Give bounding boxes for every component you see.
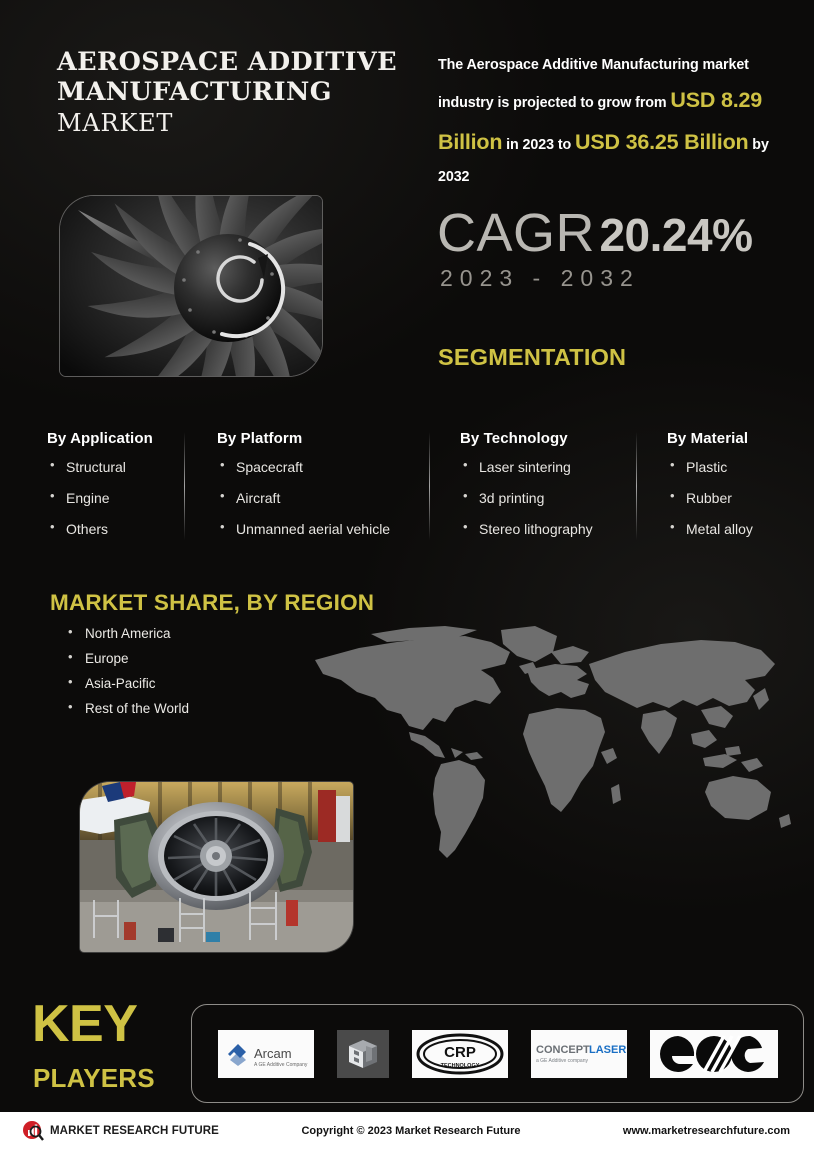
key-players-label-key: KEY bbox=[32, 1000, 137, 1050]
svg-text:TECHNOLOGY: TECHNOLOGY bbox=[440, 1063, 479, 1069]
logo-arcam: Arcam A GE Additive Company bbox=[218, 1030, 314, 1078]
logo-concept-laser: CONCEPT LASER a GE Additive company bbox=[531, 1030, 627, 1078]
segment-item: Plastic bbox=[667, 458, 753, 476]
summary-value-2032: USD 36.25 Billion bbox=[575, 130, 748, 154]
market-share-heading: MARKET SHARE, BY REGION bbox=[50, 590, 374, 616]
segment-item: Laser sintering bbox=[460, 458, 593, 476]
segment-column-material: By Material Plastic Rubber Metal alloy bbox=[667, 430, 753, 552]
segment-title: By Technology bbox=[460, 430, 593, 447]
mrf-logo-icon bbox=[22, 1120, 44, 1142]
segmentation-heading: SEGMENTATION bbox=[438, 344, 626, 371]
infographic-page: AEROSPACE ADDITIVE MANUFACTURING MARKET … bbox=[0, 0, 814, 1150]
region-item: North America bbox=[66, 626, 189, 641]
segment-item: Metal alloy bbox=[667, 520, 753, 538]
cagr-label: CAGR bbox=[437, 203, 595, 263]
footer-brand: MARKET RESEARCH FUTURE bbox=[22, 1120, 322, 1142]
segment-item: Stereo lithography bbox=[460, 520, 593, 538]
segment-divider bbox=[184, 432, 185, 540]
logo-3d-systems bbox=[337, 1030, 389, 1078]
region-item: Europe bbox=[66, 651, 189, 666]
svg-text:A GE Additive Company: A GE Additive Company bbox=[254, 1062, 308, 1068]
footer-copyright: Copyright © 2023 Market Research Future bbox=[282, 1125, 540, 1137]
svg-text:CONCEPT: CONCEPT bbox=[536, 1044, 590, 1056]
jet-engine-image bbox=[60, 196, 322, 376]
footer-brand-text: MARKET RESEARCH FUTURE bbox=[50, 1125, 219, 1137]
segment-title: By Material bbox=[667, 430, 753, 447]
title-line-2: MANUFACTURING bbox=[57, 78, 417, 108]
segment-list: Laser sintering 3d printing Stereo litho… bbox=[460, 458, 593, 539]
segment-item: Spacecraft bbox=[217, 458, 390, 476]
cagr-period: 2023 - 2032 bbox=[440, 265, 640, 292]
segment-column-application: By Application Structural Engine Others bbox=[47, 430, 153, 552]
key-players-logo-box: Arcam A GE Additive Company CRP TECHNOLO… bbox=[191, 1004, 804, 1103]
segment-column-technology: By Technology Laser sintering 3d printin… bbox=[460, 430, 593, 552]
logo-eos bbox=[650, 1030, 778, 1078]
svg-text:CRP: CRP bbox=[444, 1044, 476, 1061]
market-summary-text: The Aerospace Additive Manufacturing mar… bbox=[438, 52, 800, 192]
segment-divider bbox=[429, 432, 430, 540]
segment-item: Aircraft bbox=[217, 489, 390, 507]
page-title: AEROSPACE ADDITIVE MANUFACTURING MARKET bbox=[57, 48, 417, 137]
footer: MARKET RESEARCH FUTURE Copyright © 2023 … bbox=[0, 1112, 814, 1150]
cagr-value: 20.24% bbox=[599, 209, 752, 261]
title-line-3: MARKET bbox=[57, 109, 417, 137]
segment-item: Others bbox=[47, 520, 153, 538]
segment-divider bbox=[636, 432, 637, 540]
region-item: Asia-Pacific bbox=[66, 676, 189, 691]
svg-text:Arcam: Arcam bbox=[254, 1046, 292, 1061]
logo-crp-technology: CRP TECHNOLOGY bbox=[412, 1030, 508, 1078]
segment-item: 3d printing bbox=[460, 489, 593, 507]
segment-item: Structural bbox=[47, 458, 153, 476]
segmentation-columns: By Application Structural Engine Others … bbox=[47, 430, 777, 545]
segment-item: Engine bbox=[47, 489, 153, 507]
footer-website: www.marketresearchfuture.com bbox=[540, 1125, 790, 1137]
svg-text:a GE Additive company: a GE Additive company bbox=[536, 1058, 588, 1064]
segment-column-platform: By Platform Spacecraft Aircraft Unmanned… bbox=[217, 430, 390, 552]
region-list: North America Europe Asia-Pacific Rest o… bbox=[66, 626, 189, 726]
title-line-1: AEROSPACE ADDITIVE bbox=[57, 48, 417, 78]
segment-list: Structural Engine Others bbox=[47, 458, 153, 539]
summary-part-2: in 2023 to bbox=[502, 137, 575, 153]
svg-text:LASER: LASER bbox=[589, 1044, 626, 1056]
segment-list: Spacecraft Aircraft Unmanned aerial vehi… bbox=[217, 458, 390, 539]
world-map bbox=[305, 622, 805, 870]
region-item: Rest of the World bbox=[66, 701, 189, 716]
segment-title: By Platform bbox=[217, 430, 390, 447]
segment-item: Unmanned aerial vehicle bbox=[217, 520, 390, 538]
cagr-block: CAGR 20.24% bbox=[437, 202, 752, 264]
hangar-engine-image bbox=[80, 782, 353, 952]
segment-title: By Application bbox=[47, 430, 153, 447]
segment-item: Rubber bbox=[667, 489, 753, 507]
segment-list: Plastic Rubber Metal alloy bbox=[667, 458, 753, 539]
key-players-label-players: PLAYERS bbox=[33, 1063, 155, 1094]
